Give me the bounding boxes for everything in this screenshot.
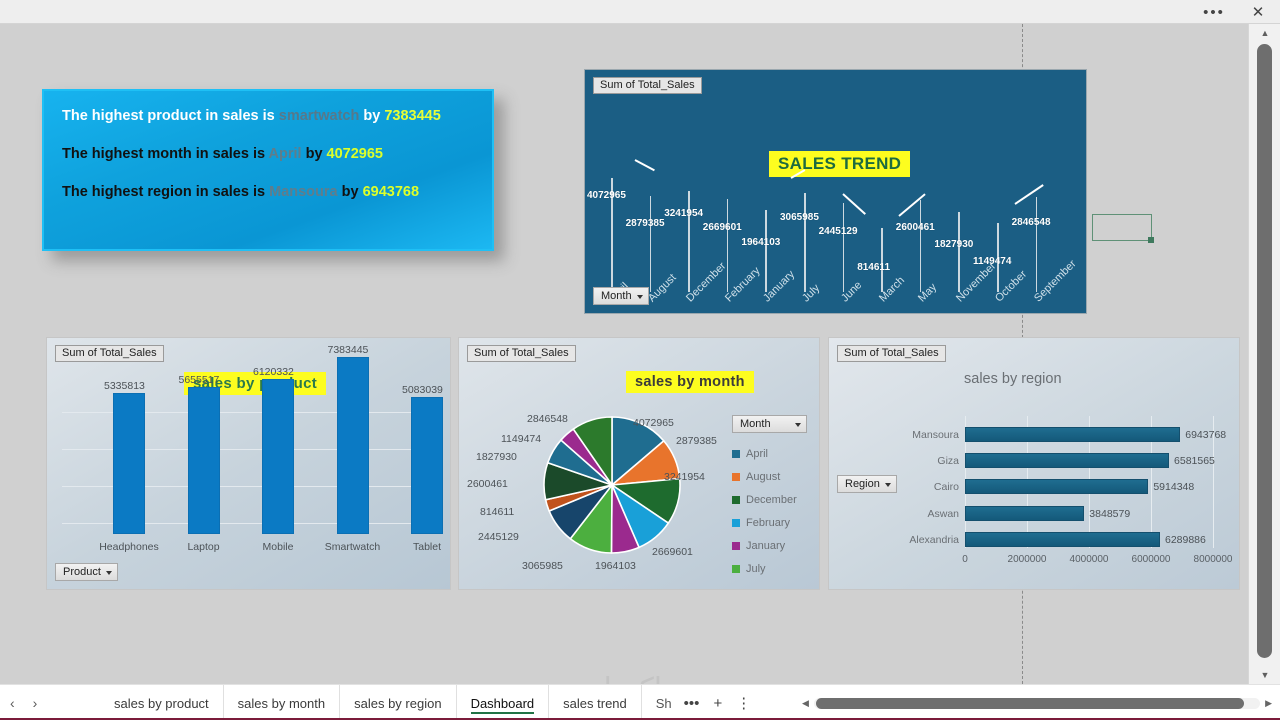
trend-value-label: 3241954	[664, 208, 703, 219]
x-axis-tick: 0	[933, 554, 997, 565]
product-bar	[337, 357, 369, 534]
close-icon[interactable]: ✕	[1236, 0, 1280, 24]
sheet-nav-arrows: ‹ ›	[10, 685, 37, 720]
chevron-down-icon	[106, 571, 112, 575]
product-bar	[113, 393, 145, 534]
kpi-month-name: April	[269, 146, 302, 162]
window-more-icon[interactable]: •••	[1192, 0, 1236, 24]
byregion-pivot-tag: Sum of Total_Sales	[837, 345, 946, 362]
trend-value-label: 814611	[857, 262, 890, 273]
trend-category-label: February	[723, 265, 763, 305]
trend-value-label: 4072965	[587, 190, 626, 201]
sales-by-product-chart[interactable]: Sum of Total_Sales sales by product 5335…	[46, 337, 451, 590]
kpi-product-mid: by	[359, 108, 384, 124]
trend-value-label: 3065985	[780, 212, 819, 223]
region-value-label: 6581565	[1174, 455, 1215, 467]
legend-swatch	[732, 473, 740, 481]
region-category-label: Mansoura	[869, 429, 959, 441]
trend-stem	[881, 228, 883, 292]
trend-stem	[843, 203, 845, 292]
product-category-label: Headphones	[99, 541, 159, 553]
trend-leader-line	[635, 159, 655, 171]
region-category-label: Aswan	[869, 508, 959, 520]
trend-stem	[765, 210, 767, 292]
kpi-product-prefix: The highest product in sales is	[62, 108, 279, 124]
legend-swatch	[732, 565, 740, 573]
region-category-label: Giza	[869, 455, 959, 467]
trend-value-label: 1827930	[934, 239, 973, 250]
trend-value-label: 1149474	[973, 256, 1011, 267]
scroll-up-icon[interactable]: ▲	[1249, 24, 1280, 42]
worksheet-canvas[interactable]: اكسل The highest product in sales is sma…	[0, 24, 1248, 684]
legend-label: August	[746, 471, 780, 483]
legend-swatch	[732, 519, 740, 527]
sales-by-month-chart[interactable]: Sum of Total_Sales sales by month 407296…	[458, 337, 820, 590]
pie-value-label: 1827930	[476, 451, 517, 463]
pie-value-label: 3065985	[522, 560, 563, 572]
bymonth-pivot-tag: Sum of Total_Sales	[467, 345, 576, 362]
chevron-down-icon	[885, 483, 891, 487]
product-category-label: Smartwatch	[323, 541, 383, 553]
product-value-label: 5083039	[402, 384, 443, 396]
trend-month-field-label: Month	[601, 290, 632, 302]
pie-value-label: 1149474	[501, 433, 541, 445]
trend-title: SALES TREND	[769, 151, 910, 177]
product-bar	[188, 387, 220, 534]
sheet-overflow-icon[interactable]: •••	[684, 695, 700, 712]
kpi-insight-card: The highest product in sales is smartwat…	[42, 89, 494, 251]
pie-value-label: 814611	[480, 506, 514, 518]
hscroll-left-icon[interactable]: ◀	[802, 698, 809, 709]
pie-value-label: 2846548	[527, 413, 568, 425]
horizontal-scrollbar[interactable]: ◀ ▶	[802, 692, 1272, 714]
byproduct-product-field-button[interactable]: Product	[55, 563, 118, 581]
trend-month-field-button[interactable]: Month	[593, 287, 649, 305]
kpi-region-prefix: The highest region in sales is	[62, 184, 269, 200]
trend-value-label: 2846548	[1012, 217, 1051, 228]
trend-stem	[804, 193, 806, 292]
trend-stem	[920, 200, 922, 292]
horizontal-scroll-thumb[interactable]	[816, 698, 1244, 709]
region-value-label: 6289886	[1165, 534, 1206, 546]
legend-label: July	[746, 563, 766, 575]
trend-stem	[688, 191, 690, 292]
legend-label: April	[746, 448, 768, 460]
region-bar	[965, 453, 1169, 468]
sheet-tab-sales-by-region[interactable]: sales by region	[340, 685, 456, 720]
trend-leader-line	[898, 193, 925, 216]
legend-item: August	[732, 465, 797, 488]
fill-handle[interactable]	[1148, 237, 1154, 243]
pie-value-label: 1964103	[595, 560, 636, 572]
bymonth-field-label: Month	[740, 418, 771, 430]
scroll-down-icon[interactable]: ▼	[1249, 666, 1280, 684]
trend-value-label: 2600461	[896, 222, 935, 233]
legend-swatch	[732, 496, 740, 504]
region-bar	[965, 506, 1084, 521]
sheet-tab-sales-by-product[interactable]: sales by product	[100, 685, 224, 720]
byproduct-pivot-tag: Sum of Total_Sales	[55, 345, 164, 362]
selected-cell-outline[interactable]	[1092, 214, 1152, 241]
chevron-down-icon	[795, 423, 801, 427]
product-value-label: 5655517	[179, 374, 220, 386]
product-category-label: Laptop	[174, 541, 234, 553]
kpi-region-name: Mansoura	[269, 184, 338, 200]
pie-value-label: 2879385	[676, 435, 717, 447]
legend-item: January	[732, 534, 797, 557]
kpi-month-value: 4072965	[327, 146, 383, 162]
product-value-label: 6120332	[253, 366, 294, 378]
sheet-tab-bar: ‹ › sales by productsales by monthsales …	[0, 684, 1280, 720]
vertical-scroll-thumb[interactable]	[1257, 44, 1272, 658]
next-sheet-icon[interactable]: ›	[33, 695, 38, 711]
trend-stem	[727, 199, 729, 292]
region-bar	[965, 479, 1148, 494]
trend-value-label: 1964103	[741, 237, 780, 248]
vertical-scrollbar[interactable]: ▲ ▼	[1248, 24, 1280, 684]
region-category-label: Alexandria	[869, 534, 959, 546]
product-bar	[262, 379, 294, 534]
pie-value-label: 4072965	[633, 417, 674, 429]
x-axis-tick: 6000000	[1119, 554, 1183, 565]
trend-value-label: 2879385	[626, 218, 665, 229]
bymonth-title: sales by month	[626, 371, 754, 393]
product-value-label: 5335813	[104, 380, 145, 392]
prev-sheet-icon[interactable]: ‹	[10, 695, 15, 711]
legend-label: January	[746, 540, 785, 552]
legend-item: April	[732, 442, 797, 465]
x-axis-tick: 8000000	[1181, 554, 1240, 565]
window-titlebar: ••• ✕	[0, 0, 1280, 24]
sales-by-region-chart[interactable]: Sum of Total_Sales sales by region 02000…	[828, 337, 1240, 590]
hscroll-track[interactable]	[814, 698, 1260, 709]
legend-swatch	[732, 450, 740, 458]
trend-stem	[958, 212, 960, 292]
pie-svg	[542, 415, 682, 555]
region-value-label: 6943768	[1185, 429, 1226, 441]
sales-trend-chart[interactable]: Sum of Total_Sales SALES TREND 4072965Ap…	[584, 69, 1087, 314]
kpi-product-name: smartwatch	[279, 108, 360, 124]
region-bar	[965, 532, 1160, 547]
x-axis-tick: 2000000	[995, 554, 1059, 565]
kpi-product-value: 7383445	[384, 108, 440, 124]
region-value-label: 3848579	[1089, 508, 1130, 520]
kpi-month-mid: by	[302, 146, 327, 162]
sheet-tabs: sales by productsales by monthsales by r…	[100, 685, 751, 720]
pie-value-label: 3241954	[664, 471, 705, 483]
kpi-line-product: The highest product in sales is smartwat…	[62, 108, 482, 124]
x-axis-tick: 4000000	[1057, 554, 1121, 565]
trend-stem	[650, 196, 652, 292]
bymonth-month-field-button[interactable]: Month	[732, 415, 807, 433]
pie-value-label: 2669601	[652, 546, 693, 558]
pie-value-label: 2445129	[478, 531, 519, 543]
region-value-label: 5914348	[1153, 481, 1194, 493]
product-category-label: Tablet	[397, 541, 451, 553]
pie-value-label: 2600461	[467, 478, 508, 490]
kpi-line-month: The highest month in sales is April by 4…	[62, 146, 482, 162]
sheet-tab-actions: •••+⋮	[676, 694, 752, 712]
kpi-line-region: The highest region in sales is Mansoura …	[62, 184, 482, 200]
region-bar	[965, 427, 1180, 442]
sheet-tab-dashboard[interactable]: Dashboard	[457, 685, 550, 720]
sheet-menu-icon[interactable]: ⋮	[736, 694, 751, 712]
product-value-label: 7383445	[328, 344, 369, 356]
kpi-region-mid: by	[338, 184, 363, 200]
bymonth-legend: AprilAugustDecemberFebruaryJanuaryJuly	[732, 442, 797, 580]
byregion-field-label: Region	[845, 478, 880, 490]
byregion-title: sales by region	[964, 371, 1062, 387]
legend-item: December	[732, 488, 797, 511]
legend-item: July	[732, 557, 797, 580]
legend-swatch	[732, 542, 740, 550]
legend-label: December	[746, 494, 797, 506]
excel-dashboard-window: ••• ✕ اكسل The highest product in sales …	[0, 0, 1280, 720]
hscroll-right-icon[interactable]: ▶	[1265, 698, 1272, 709]
byregion-region-field-button[interactable]: Region	[837, 475, 897, 493]
trend-pivot-tag: Sum of Total_Sales	[593, 77, 702, 94]
trend-leader-line	[1014, 184, 1043, 205]
product-bar	[411, 397, 443, 534]
kpi-month-prefix: The highest month in sales is	[62, 146, 269, 162]
byproduct-field-label: Product	[63, 566, 101, 578]
trend-stem	[1036, 197, 1038, 292]
sheet-tab-sh[interactable]: Sh	[642, 685, 676, 720]
bymonth-pie	[542, 415, 682, 555]
sheet-tab-sales-trend[interactable]: sales trend	[549, 685, 642, 720]
watermark-text: اكسل	[590, 672, 662, 684]
add-sheet-icon[interactable]: +	[713, 695, 722, 712]
trend-value-label: 2669601	[703, 222, 742, 233]
trend-leader-line	[842, 193, 866, 215]
legend-item: February	[732, 511, 797, 534]
sheet-tab-sales-by-month[interactable]: sales by month	[224, 685, 340, 720]
trend-category-label: December	[684, 260, 728, 304]
trend-value-label: 2445129	[819, 226, 858, 237]
kpi-region-value: 6943768	[363, 184, 419, 200]
legend-label: February	[746, 517, 790, 529]
product-category-label: Mobile	[248, 541, 308, 553]
chevron-down-icon	[637, 295, 643, 299]
trend-category-label: September	[1032, 258, 1079, 305]
